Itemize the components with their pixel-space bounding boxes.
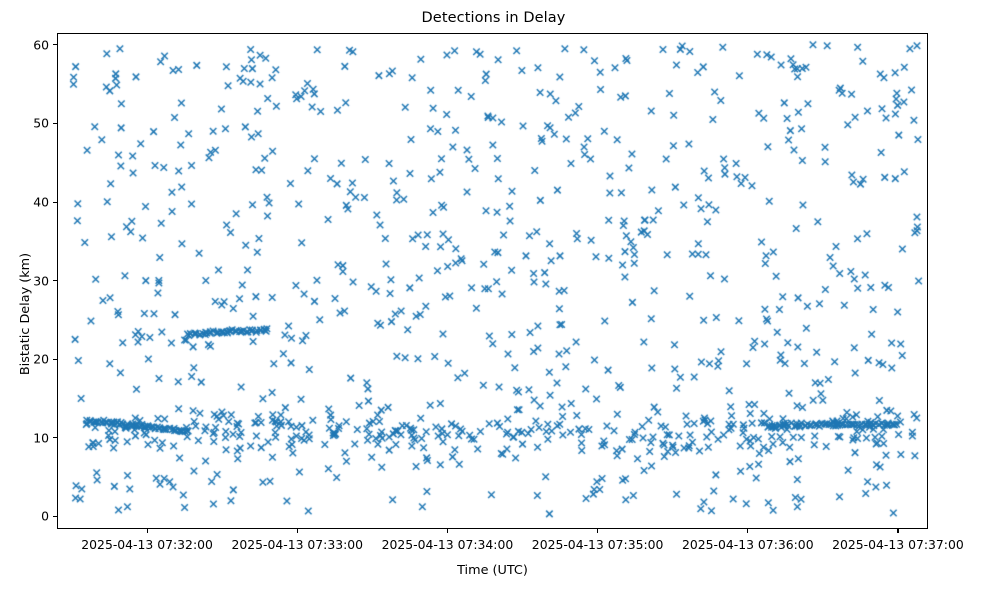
x-tick-mark [747,529,748,533]
y-tick-mark [53,44,57,45]
plot-axes [57,33,928,529]
chart-title: Detections in Delay [0,10,987,26]
y-tick-mark [53,202,57,203]
x-tick-label: 2025-04-13 07:34:00 [382,537,514,552]
x-tick-label: 2025-04-13 07:37:00 [832,537,964,552]
x-tick-mark [147,529,148,533]
matplotlib-figure: Detections in Delay 0102030405060 2025-0… [0,0,987,590]
x-tick-mark [597,529,598,533]
x-tick-label: 2025-04-13 07:33:00 [231,537,363,552]
x-tick-mark [297,529,298,533]
y-tick-mark [53,516,57,517]
y-tick-mark [53,280,57,281]
x-tick-label: 2025-04-13 07:36:00 [682,537,814,552]
x-tick-mark [897,529,898,533]
y-axis-label: Bistatic Delay (km) [18,66,34,562]
y-axis-label-wrapper: Bistatic Delay (km) [8,33,24,529]
scatter-plot-canvas [58,34,928,529]
y-tick-mark [53,437,57,438]
y-tick-mark [53,123,57,124]
y-tick-mark [53,359,57,360]
x-tick-label: 2025-04-13 07:32:00 [81,537,213,552]
x-axis-label: Time (UTC) [57,563,928,578]
x-tick-mark [447,529,448,533]
x-tick-label: 2025-04-13 07:35:00 [532,537,664,552]
